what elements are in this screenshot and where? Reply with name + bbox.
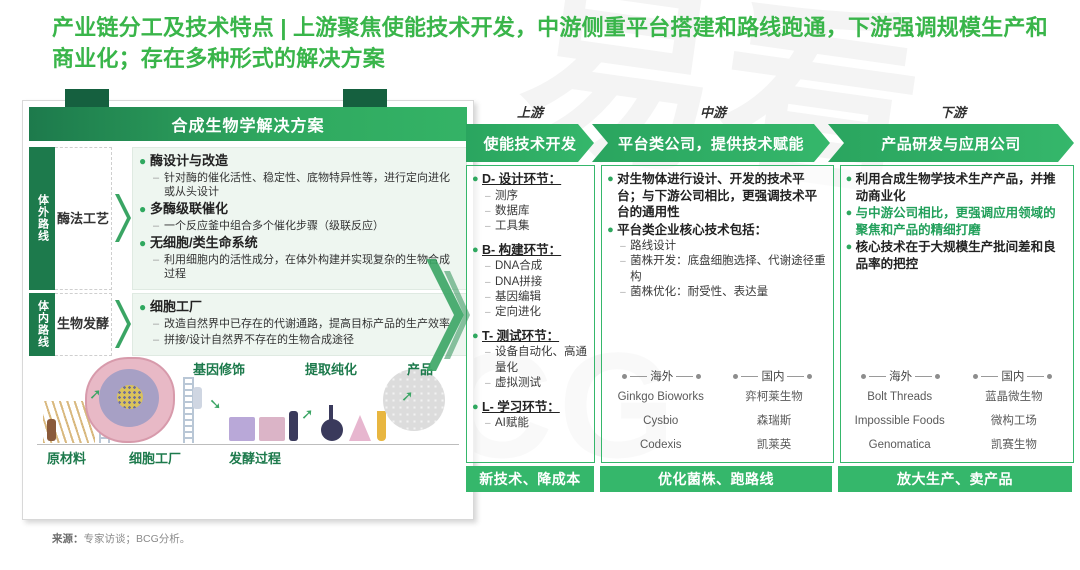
dash-icon: – [485, 204, 495, 219]
legend-dot-icon [807, 374, 812, 379]
list-item: 森瑞斯 [717, 410, 830, 434]
bullet-item: ● 利用合成生物学技术生产产品，并推动商业化 [846, 171, 1068, 204]
illustration-foot-cellfactory: 细胞工厂 [129, 448, 181, 467]
legend-item-overseas: 海外 [861, 368, 940, 384]
legend-downstream: 海外 国内 [841, 364, 1073, 386]
illustration-foot-feedstock: 原材料 [47, 448, 86, 467]
firm-list-overseas: Ginkgo Bioworks Cysbio Codexis [604, 386, 717, 458]
stage-label-row: 上游 中游 下游 [466, 100, 1074, 122]
dash-icon: – [485, 275, 495, 290]
bullet-dot-icon: ● [472, 171, 482, 188]
legend-dot-icon [861, 374, 866, 379]
sub-bullet-item: –菌株优化：耐受性、表达量 [620, 285, 827, 300]
pathway-rail-label: 体内路线 [29, 293, 55, 356]
firm-list-overseas: Bolt Threads Impossible Foods Genomatica [843, 386, 957, 458]
dash-icon: – [485, 416, 495, 431]
dash-icon: – [485, 219, 495, 234]
bullet-item: ● D- 设计环节： [472, 171, 589, 188]
list-item: Cysbio [604, 410, 717, 434]
legend-dot-icon [622, 374, 627, 379]
illustration-foot-fermentation: 发酵过程 [229, 448, 281, 467]
list-item: Codexis [604, 434, 717, 458]
chevron-arrow-icon [112, 147, 132, 290]
pathway-rail-label: 体外路线 [29, 147, 55, 290]
legend-dot-icon [973, 374, 978, 379]
legend-line-icon [676, 376, 693, 377]
list-item: Impossible Foods [843, 410, 957, 434]
column-upstream: ● D- 设计环节： –测序 –数据库 –工具集 ● B- 构建环节： –DNA… [466, 165, 595, 463]
stage-band-row: 使能技术开发 平台类公司，提供技术赋能 产品研发与应用公司 [466, 124, 1074, 162]
dash-icon: – [153, 171, 164, 200]
spacer [472, 392, 589, 399]
legend-item-overseas: 海外 [622, 368, 701, 384]
legend-line-icon [630, 376, 647, 377]
source-label: 来源： [52, 533, 84, 545]
legend-dot-icon [733, 374, 738, 379]
stage-band-upstream[interactable]: 使能技术开发 [466, 124, 594, 162]
pathway-row-in-vivo: 体内路线 生物发酵 ● 细胞工厂 – 改造自然界中已存在的代谢通路，提高目标产品… [29, 293, 467, 356]
legend-line-icon [787, 376, 804, 377]
flow-arrow-icon: ➚ [89, 385, 102, 403]
spacer [472, 235, 589, 242]
list-item: 弈柯莱生物 [717, 386, 830, 410]
pathway-process-label: 酶法工艺 [55, 147, 112, 290]
bullet-item: ● 对生物体进行设计、开发的技术平台；与下游公司相比，更强调技术平台的通用性 [607, 171, 827, 221]
dash-icon: – [485, 345, 495, 376]
list-item: 蓝晶微生物 [957, 386, 1071, 410]
stage-columns: ● D- 设计环节： –测序 –数据库 –工具集 ● B- 构建环节： –DNA… [466, 165, 1074, 463]
dash-icon: – [620, 285, 630, 300]
legend-midstream: 海外 国内 [602, 364, 832, 386]
legend-dot-icon [1047, 374, 1052, 379]
list-item: Genomatica [843, 434, 957, 458]
dash-icon: – [485, 259, 495, 274]
sub-bullet-item: – 利用细胞内的活性成分，在体外构建并实现复杂的生物合成过程 [153, 253, 460, 282]
firm-list-domestic: 弈柯莱生物 森瑞斯 凯莱英 [717, 386, 830, 458]
illustration-label-purification: 提取纯化 [305, 359, 357, 378]
sub-bullet-item: –DNA合成 [485, 259, 589, 274]
operator-figure-icon [289, 411, 298, 441]
bullet-dot-icon: ● [472, 399, 482, 416]
sub-bullet-item: –工具集 [485, 219, 589, 234]
panel-transition-arrow-icon [424, 255, 470, 380]
bullet-dot-icon: ● [139, 201, 150, 218]
test-tube-icon [377, 411, 386, 441]
sub-bullet-item: – 一个反应釜中组合多个催化步骤（级联反应） [153, 219, 460, 234]
legend-line-icon [869, 376, 886, 377]
bullet-dot-icon: ● [139, 299, 150, 316]
legend-item-domestic: 国内 [733, 368, 812, 384]
dash-icon: – [485, 189, 495, 204]
bullet-text-highlight: 与下游公司相比，更强调技术平台的通用性 [617, 189, 817, 220]
sub-bullet-item: –设备自动化、高通量化 [485, 345, 589, 376]
flask-neck-icon [329, 405, 333, 421]
sub-bullet-item: – 针对酶的催化活性、稳定性、底物特异性等，进行定向进化或从头设计 [153, 171, 460, 200]
round-flask-icon [321, 419, 343, 441]
bullet-dot-icon: ● [846, 205, 856, 238]
bullet-dot-icon: ● [472, 328, 482, 345]
ladder-icon [183, 377, 194, 443]
legend-line-icon [741, 376, 758, 377]
dash-icon: – [153, 253, 164, 282]
list-item: 凯赛生物 [957, 434, 1071, 458]
list-item: Ginkgo Bioworks [604, 386, 717, 410]
bullet-dot-icon: ● [472, 242, 482, 259]
bullet-item: ● T- 测试环节： [472, 328, 589, 345]
footer-band-downstream[interactable]: 放大生产、卖产品 [838, 466, 1072, 492]
farmer-figure-icon [47, 419, 56, 441]
bullet-item: ● 核心技术在于大规模生产批间差和良品率的把控 [846, 239, 1068, 272]
firm-lists-midstream: Ginkgo Bioworks Cysbio Codexis 弈柯莱生物 森瑞斯… [602, 386, 832, 462]
column-downstream-body: ● 利用合成生物学技术生产产品，并推动商业化 ● 与中游公司相比，更强调应用领域… [841, 166, 1073, 364]
sub-bullet-item: –数据库 [485, 204, 589, 219]
legend-line-icon [915, 376, 932, 377]
left-panel-header: 合成生物学解决方案 [29, 107, 467, 141]
footer-bands: 新技术、降成本 优化菌株、跑路线 放大生产、卖产品 [466, 466, 1074, 492]
stage-label-downstream: 下游 [832, 100, 1074, 122]
bullet-dot-icon: ● [846, 171, 856, 204]
sub-bullet-item: – 拼接/设计自然界不存在的生物合成途径 [153, 333, 460, 348]
flow-arrow-icon: ➚ [301, 405, 314, 423]
bullet-dot-icon: ● [607, 171, 617, 221]
source-text: 专家访谈；BCG分析。 [84, 533, 191, 545]
bullet-item: ● 细胞工厂 [139, 299, 460, 316]
pathway-card-in-vitro: ● 酶设计与改造 – 针对酶的催化活性、稳定性、底物特异性等，进行定向进化或从头… [132, 147, 467, 290]
list-item: 凯莱英 [717, 434, 830, 458]
legend-dot-icon [696, 374, 701, 379]
sub-bullet-item: –虚拟测试 [485, 376, 589, 391]
legend-line-icon [981, 376, 998, 377]
list-item: 微构工场 [957, 410, 1071, 434]
sub-bullet-item: –测序 [485, 189, 589, 204]
page-title: 产业链分工及技术特点 | 上游聚焦使能技术开发，中游侧重平台搭建和路线跑通，下游… [52, 12, 1052, 74]
legend-dot-icon [935, 374, 940, 379]
column-downstream: ● 利用合成生物学技术生产产品，并推动商业化 ● 与中游公司相比，更强调应用领域… [840, 165, 1074, 463]
dash-icon: – [153, 317, 164, 332]
sub-bullet-item: –DNA拼接 [485, 275, 589, 290]
bullet-item: ● 与中游公司相比，更强调应用领域的聚焦和产品的精细打磨 [846, 205, 1068, 238]
scientist-figure-icon [193, 387, 202, 409]
dash-icon: – [485, 305, 495, 320]
bullet-dot-icon: ● [139, 153, 150, 170]
bullet-dot-icon: ● [846, 239, 856, 272]
column-upstream-body: ● D- 设计环节： –测序 –数据库 –工具集 ● B- 构建环节： –DNA… [467, 166, 594, 462]
pathway-row-in-vitro: 体外路线 酶法工艺 ● 酶设计与改造 – 针对酶的催化活性、稳定性、底物特异性等… [29, 147, 467, 290]
dash-icon: – [485, 376, 495, 391]
left-panel-header-label: 合成生物学解决方案 [171, 112, 324, 136]
sub-bullet-item: – 改造自然界中已存在的代谢通路，提高目标产品的生产效率 [153, 317, 460, 332]
column-midstream: ● 对生物体进行设计、开发的技术平台；与下游公司相比，更强调技术平台的通用性 ●… [601, 165, 833, 463]
source-note: 来源：专家访谈；BCG分析。 [52, 531, 190, 546]
dash-icon: – [620, 239, 630, 254]
sub-bullet-item: –定向进化 [485, 305, 589, 320]
flow-arrow-icon: ➘ [209, 395, 222, 413]
erlenmeyer-flask-icon [349, 415, 371, 441]
footer-band-midstream[interactable]: 优化菌株、跑路线 [600, 466, 832, 492]
bullet-item: ● 多酶级联催化 [139, 201, 460, 218]
firm-lists-downstream: Bolt Threads Impossible Foods Genomatica… [841, 386, 1073, 462]
stage-label-midstream: 中游 [594, 100, 832, 122]
bullet-item: ● 平台类企业核心技术包括： [607, 222, 827, 239]
sub-bullet-item: –路线设计 [620, 239, 827, 254]
spacer [472, 321, 589, 328]
illustration-label-gene-edit: 基因修饰 [193, 359, 245, 378]
bullet-item: ● B- 构建环节： [472, 242, 589, 259]
stage-band-midstream[interactable]: 平台类公司，提供技术赋能 [592, 124, 830, 162]
culture-tank-icon [259, 417, 285, 441]
column-midstream-body: ● 对生物体进行设计、开发的技术平台；与下游公司相比，更强调技术平台的通用性 ●… [602, 166, 832, 364]
pathway-card-in-vivo: ● 细胞工厂 – 改造自然界中已存在的代谢通路，提高目标产品的生产效率 – 拼接… [132, 293, 467, 356]
bullet-item: ● 酶设计与改造 [139, 153, 460, 170]
illustration-baseline [37, 444, 459, 445]
culture-tank-icon [229, 417, 255, 441]
bullet-item: ● 无细胞/类生命系统 [139, 235, 460, 252]
dash-icon: – [153, 333, 164, 348]
stage-band-downstream[interactable]: 产品研发与应用公司 [828, 124, 1074, 162]
footer-band-upstream[interactable]: 新技术、降成本 [466, 466, 594, 492]
firm-list-domestic: 蓝晶微生物 微构工场 凯赛生物 [957, 386, 1071, 458]
legend-item-domestic: 国内 [973, 368, 1052, 384]
sub-bullet-item: –基因编辑 [485, 290, 589, 305]
bullet-dot-icon: ● [607, 222, 617, 239]
dash-icon: – [153, 219, 164, 234]
legend-line-icon [1027, 376, 1044, 377]
dash-icon: – [485, 290, 495, 305]
chevron-arrow-icon [112, 293, 132, 356]
list-item: Bolt Threads [843, 386, 957, 410]
process-illustration: ➚ ➘ ➚ ➚ 基因修饰 提取纯化 产品 原材料 细胞工厂 发酵过程 [33, 359, 463, 471]
sub-bullet-item: –AI赋能 [485, 416, 589, 431]
right-panel: 上游 中游 下游 使能技术开发 平台类公司，提供技术赋能 产品研发与应用公司 ●… [466, 100, 1074, 522]
bullet-dot-icon: ● [139, 235, 150, 252]
flow-arrow-icon: ➚ [401, 387, 414, 405]
dash-icon: – [620, 254, 630, 285]
stage-label-upstream: 上游 [466, 100, 594, 122]
bullet-item: ● L- 学习环节： [472, 399, 589, 416]
pathway-process-label: 生物发酵 [55, 293, 112, 356]
left-panel: 合成生物学解决方案 体外路线 酶法工艺 ● 酶设计与改造 – 针对酶的催化 [22, 100, 474, 520]
left-panel-body: 体外路线 酶法工艺 ● 酶设计与改造 – 针对酶的催化活性、稳定性、底物特异性等… [23, 141, 473, 471]
sub-bullet-item: –菌株开发：底盘细胞选择、代谢途径重构 [620, 254, 827, 285]
